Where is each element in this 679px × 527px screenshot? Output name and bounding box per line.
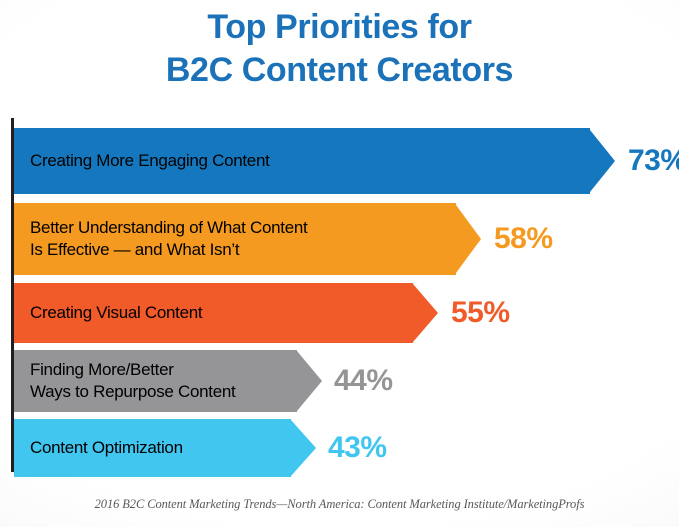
bar-arrow-tip-icon — [291, 420, 316, 476]
infographic-chart: Top Priorities for B2C Content Creators … — [0, 0, 679, 527]
bar-arrow-tip-icon — [590, 130, 615, 192]
source-note: 2016 B2C Content Marketing Trends—North … — [0, 497, 679, 512]
bar-value-label: 73% — [628, 144, 679, 178]
bar-chart: Creating More Engaging Content73%Better … — [0, 118, 679, 488]
bar-row: Content Optimization43% — [14, 419, 436, 477]
bar-row: Finding More/Better Ways to Repurpose Co… — [14, 350, 442, 412]
bar-category-label: Creating More Engaging Content — [30, 150, 270, 172]
bar-value-label: 43% — [328, 431, 387, 465]
title-line-2: B2C Content Creators — [0, 49, 679, 92]
title-line-1: Top Priorities for — [0, 6, 679, 49]
bar-category-label: Better Understanding of What Content Is … — [30, 217, 307, 261]
bar-arrow-tip-icon — [413, 284, 438, 342]
bar-value-label: 44% — [334, 364, 393, 398]
bar-category-label: Content Optimization — [30, 437, 183, 459]
bar-row: Better Understanding of What Content Is … — [14, 203, 601, 275]
bar-arrow-tip-icon — [456, 205, 481, 273]
bar-row: Creating More Engaging Content73% — [14, 128, 679, 194]
bar-arrow-tip-icon — [297, 351, 322, 411]
bar-category-label: Finding More/Better Ways to Repurpose Co… — [30, 359, 235, 403]
bar-row: Creating Visual Content55% — [14, 283, 558, 343]
bar-value-label: 58% — [494, 222, 553, 256]
bar-category-label: Creating Visual Content — [30, 302, 202, 324]
bar-value-label: 55% — [451, 296, 510, 330]
page-title: Top Priorities for B2C Content Creators — [0, 6, 679, 92]
